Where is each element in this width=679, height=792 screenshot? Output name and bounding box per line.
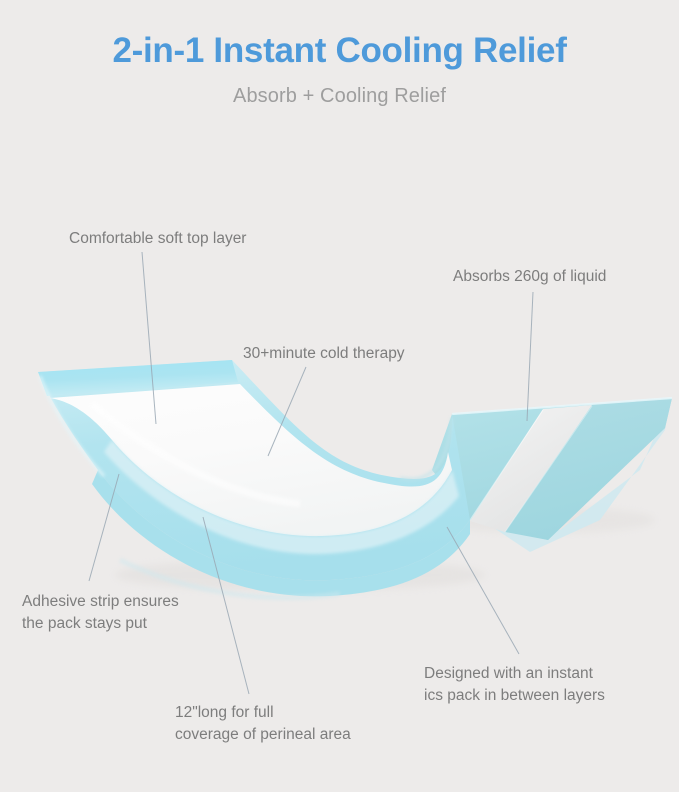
- product-main-body: [38, 360, 470, 598]
- callout-absorbs-260g-of-liquid: Absorbs 260g of liquid: [453, 266, 606, 288]
- absorbent-core: [50, 384, 452, 536]
- leader-line-absorbs-260g-of-liquid: [527, 292, 533, 421]
- top-shell-strip: [38, 360, 238, 396]
- product-back-layer: [430, 398, 672, 552]
- leader-line-30-minute-cold-therapy: [268, 367, 306, 456]
- leader-line-comfortable-soft-top-layer: [142, 252, 156, 424]
- callout-designed-with-an-instant-ice-pack: Designed with an instant ics pack in bet…: [424, 663, 605, 707]
- product-shadow: [115, 507, 655, 591]
- page-subtitle: Absorb + Cooling Relief: [0, 70, 679, 108]
- leader-line-ice-pack: [447, 527, 519, 654]
- leader-line-12-inch-long: [203, 517, 249, 694]
- header: 2-in-1 Instant Cooling Relief Absorb + C…: [0, 0, 679, 108]
- callout-12-inch-long-coverage: 12"long for full coverage of perineal ar…: [175, 702, 351, 746]
- callout-adhesive-strip-ensures-the-pack-stays-put: Adhesive strip ensures the pack stays pu…: [22, 591, 179, 635]
- adhesive-strip-graphic: [470, 405, 592, 532]
- infographic-page: 2-in-1 Instant Cooling Relief Absorb + C…: [0, 0, 679, 792]
- page-title: 2-in-1 Instant Cooling Relief: [0, 0, 679, 70]
- callout-comfortable-soft-top-layer: Comfortable soft top layer: [69, 228, 246, 250]
- leader-line-adhesive-strip: [89, 474, 119, 581]
- callout-30-minute-cold-therapy: 30+minute cold therapy: [243, 343, 405, 365]
